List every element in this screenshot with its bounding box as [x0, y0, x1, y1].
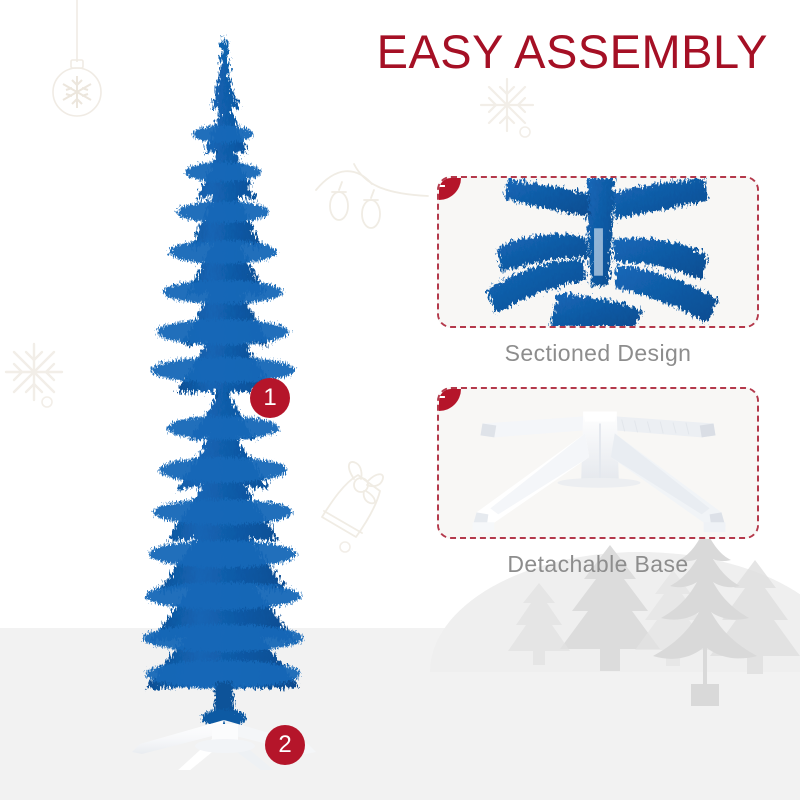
- badge-number: 2: [437, 387, 446, 402]
- badge-number: 1: [263, 386, 276, 410]
- badge-number: 1: [437, 176, 446, 191]
- callout-2-image-frame: 2: [437, 387, 759, 539]
- snowflake-small-icon: [40, 395, 54, 409]
- callout-detachable-base: 2 Detachable Base: [437, 387, 759, 578]
- callout-sectioned-design: 1 Sectioned Design: [437, 176, 759, 367]
- product-image-christmas-tree: [80, 30, 370, 770]
- tree-section-joint-marker: 1: [250, 378, 290, 418]
- callout-1-label: Sectioned Design: [437, 340, 759, 367]
- badge-number: 2: [278, 733, 291, 757]
- snowflake-large-icon: [2, 340, 66, 404]
- callout-2-label: Detachable Base: [437, 551, 759, 578]
- callout-1-image-frame: 1: [437, 176, 759, 328]
- snowflake-small-icon: [518, 125, 532, 139]
- page-title: EASY ASSEMBLY: [377, 28, 768, 75]
- tree-base-marker: 2: [265, 725, 305, 765]
- tree-section-joint-closeup: [439, 178, 757, 326]
- infographic-canvas: 1 2 EASY ASSEMBLY: [0, 0, 800, 800]
- pine-tree-silhouette: [500, 583, 578, 675]
- detachable-base-closeup: [439, 389, 757, 537]
